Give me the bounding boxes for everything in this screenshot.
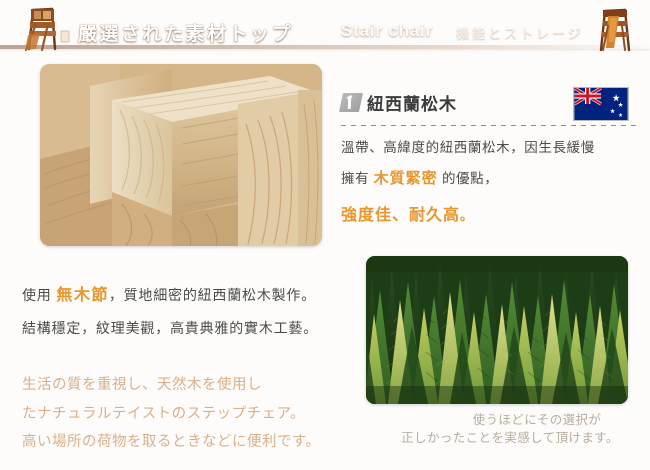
wood-title: 紐西蘭松木 bbox=[367, 90, 457, 115]
left-line-1-suffix: ，質地細密的紐西蘭松木製作。 bbox=[109, 287, 316, 303]
panel-line-3-tail: 。 bbox=[460, 208, 474, 223]
wood-origin-panel: 紐西蘭松木 溫帶、高緯度的紐西蘭松木，因生長 bbox=[341, 88, 637, 225]
forest-caption-line-1: 使うほどにその選択が bbox=[382, 411, 638, 429]
left-line-1-prefix: 使用 bbox=[22, 287, 52, 303]
panel-line-1: 溫帶、高緯度的紐西蘭松木，因生長緩慢 bbox=[341, 140, 637, 156]
panel-line-2-prefix: 擁有 bbox=[341, 171, 369, 186]
jp-line-1: 生活の質を重視し、天然木を使用し bbox=[22, 378, 338, 393]
panel-line-2-suffix: 的優點， bbox=[442, 171, 498, 186]
panel-divider bbox=[341, 125, 637, 126]
panel-line-2-highlight: 木質緊密 bbox=[374, 170, 438, 187]
forest-caption: 使うほどにその選択が 正しかったことを実感して頂けます。 bbox=[382, 411, 638, 447]
panel-line-2: 擁有 木質緊密 的優點， bbox=[341, 170, 637, 188]
panel-line-3-text: 強度佳、耐久高 bbox=[341, 207, 460, 224]
pine-forest-photo bbox=[366, 256, 628, 404]
header-title-english: Stair chair bbox=[341, 21, 433, 41]
left-description-block: 使用 無木節，質地細密的紐西蘭松木製作。 結構穩定，紋理美觀，高貴典雅的實木工藝… bbox=[22, 288, 332, 352]
header-title-japanese: 機能とストレージ bbox=[456, 23, 584, 42]
left-line-2: 結構穩定，紋理美觀，高貴典雅的實木工藝。 bbox=[22, 321, 332, 335]
forest-caption-line-2: 正しかったことを実感して頂けます。 bbox=[382, 429, 638, 447]
left-line-1: 使用 無木節，質地細密的紐西蘭松木製作。 bbox=[22, 288, 332, 304]
panel-line-3: 強度佳、耐久高。 bbox=[341, 201, 637, 225]
wood-title-row: 紐西蘭松木 bbox=[341, 88, 637, 116]
left-line-1-highlight: 無木節 bbox=[56, 287, 109, 304]
jp-line-3: 高い場所の荷物を取るときなどに便利です。 bbox=[22, 435, 338, 450]
origin-number-one-icon bbox=[339, 93, 363, 112]
new-zealand-flag-icon bbox=[573, 87, 629, 121]
japanese-description-block: 生活の質を重視し、天然木を使用し たナチュラルテイストのステップチェア。 高い場… bbox=[22, 378, 338, 464]
jp-line-2: たナチュラルテイストのステップチェア。 bbox=[22, 407, 338, 422]
pine-lumber-photo bbox=[40, 64, 322, 246]
header-title-chinese: 嚴選された素材トップ bbox=[78, 19, 293, 46]
